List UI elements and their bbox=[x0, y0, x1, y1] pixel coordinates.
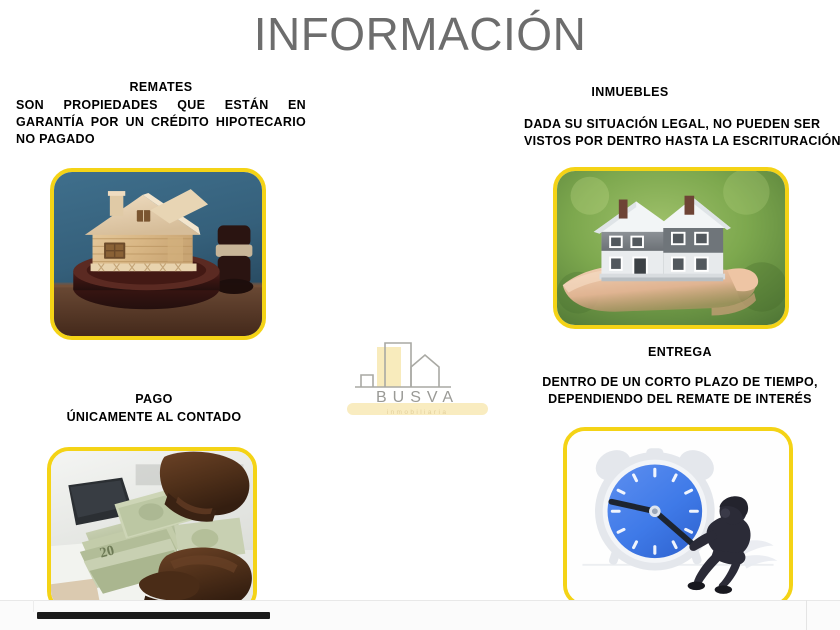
bottom-left-edge-line bbox=[33, 600, 34, 612]
entrega-body-line-2: DEPENDIENDO DEL REMATE DE INTERÉS bbox=[525, 391, 835, 408]
wooden-house-on-gavel-block-photo bbox=[54, 172, 262, 336]
slide-canvas: INFORMACIÓN REMATES SON PROPIEDADES QUE … bbox=[0, 0, 840, 630]
watermark-brand-name: BUSVA bbox=[345, 389, 490, 407]
entrega-body: DENTRO DE UN CORTO PLAZO DE TIEMPO, DEPE… bbox=[525, 374, 835, 408]
busva-watermark-logo: BUSVA inmobiliaria bbox=[345, 335, 490, 425]
inmuebles-heading: INMUEBLES bbox=[524, 84, 736, 100]
watermark-brand-subtitle: inmobiliaria bbox=[345, 409, 490, 416]
remates-body: SON PROPIEDADES QUE ESTÁN EN GARANTÍA PO… bbox=[16, 97, 306, 148]
horizontal-scrollbar[interactable] bbox=[37, 612, 270, 619]
section-entrega-text: ENTREGA DENTRO DE UN CORTO PLAZO DE TIEM… bbox=[525, 344, 835, 408]
pago-photo-frame: 20 20 bbox=[47, 447, 257, 613]
inmuebles-photo-frame bbox=[553, 167, 789, 329]
remates-photo-frame bbox=[50, 168, 266, 340]
entrega-body-line-1: DENTRO DE UN CORTO PLAZO DE TIEMPO, bbox=[525, 374, 835, 391]
pago-body: ÚNICAMENTE AL CONTADO bbox=[20, 409, 288, 426]
page-title: INFORMACIÓN bbox=[0, 6, 840, 62]
pago-heading: PAGO bbox=[20, 391, 288, 407]
hand-holding-miniature-house-photo bbox=[557, 171, 785, 325]
entrega-photo-frame bbox=[563, 427, 793, 607]
hands-counting-dollar-bills-photo: 20 20 bbox=[51, 451, 253, 609]
section-inmuebles-text: INMUEBLES DADA SU SITUACIÓN LEGAL, NO PU… bbox=[524, 84, 840, 150]
inmuebles-body-line-1: DADA SU SITUACIÓN LEGAL, NO PUEDEN SER bbox=[524, 116, 840, 133]
entrega-heading: ENTREGA bbox=[525, 344, 835, 360]
section-pago-text: PAGO ÚNICAMENTE AL CONTADO bbox=[20, 391, 288, 426]
bottom-right-edge-line bbox=[806, 600, 807, 630]
section-remates-text: REMATES SON PROPIEDADES QUE ESTÁN EN GAR… bbox=[16, 79, 306, 148]
inmuebles-body-line-2: VISTOS POR DENTRO HASTA LA ESCRITURACIÓN bbox=[524, 133, 840, 150]
person-pulling-clock-hand-illustration bbox=[567, 431, 789, 603]
remates-heading: REMATES bbox=[16, 79, 306, 95]
inmuebles-body: DADA SU SITUACIÓN LEGAL, NO PUEDEN SER V… bbox=[524, 116, 840, 150]
